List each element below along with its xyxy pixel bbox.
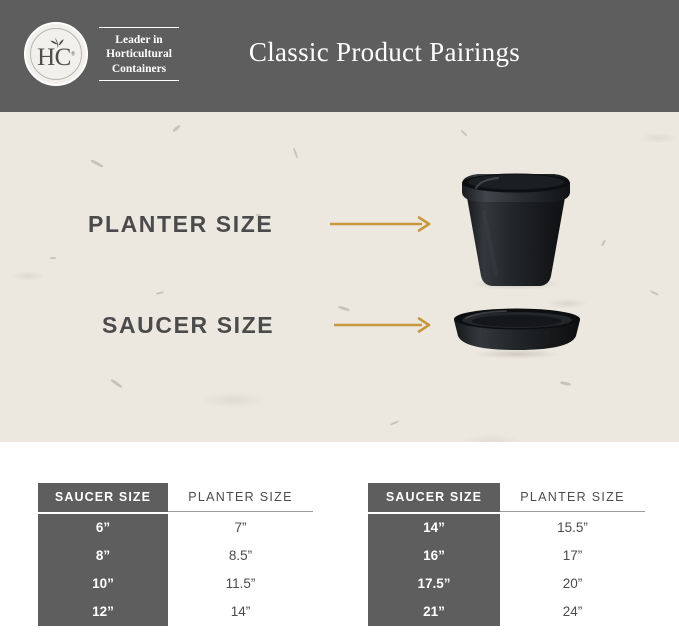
- table-row: 21” 24”: [368, 598, 645, 626]
- column-header-planter-size: PLANTER SIZE: [168, 483, 313, 512]
- page-title: Classic Product Pairings: [0, 37, 679, 68]
- texture-speck: [460, 130, 467, 137]
- size-table-left: SAUCER SIZE PLANTER SIZE 6” 7” 8” 8.5” 1…: [38, 483, 313, 626]
- saucer-size-label: SAUCER SIZE: [102, 312, 274, 339]
- texture-speck: [90, 159, 104, 168]
- table-row: 8” 8.5”: [38, 542, 313, 570]
- cell-saucer-size: 17.5”: [368, 570, 500, 598]
- texture-speck: [601, 239, 606, 246]
- table-body: 14” 15.5” 16” 17” 17.5” 20” 21” 24”: [368, 512, 645, 626]
- texture-speck: [156, 291, 164, 295]
- cell-planter-size: 24”: [500, 598, 645, 626]
- column-header-planter-size: PLANTER SIZE: [500, 483, 645, 512]
- table-row: 14” 15.5”: [368, 514, 645, 542]
- cell-planter-size: 8.5”: [168, 542, 313, 570]
- texture-speck: [338, 305, 350, 312]
- cell-planter-size: 15.5”: [500, 514, 645, 542]
- cell-saucer-size: 10”: [38, 570, 168, 598]
- table-row: 17.5” 20”: [368, 570, 645, 598]
- cell-saucer-size: 14”: [368, 514, 500, 542]
- cell-saucer-size: 12”: [38, 598, 168, 626]
- saucer-arrow-icon: [334, 317, 434, 333]
- cell-planter-size: 11.5”: [168, 570, 313, 598]
- planter-arrow-icon: [330, 216, 434, 232]
- cell-saucer-size: 6”: [38, 514, 168, 542]
- cell-planter-size: 20”: [500, 570, 645, 598]
- cell-planter-size: 7”: [168, 514, 313, 542]
- column-header-saucer-size: SAUCER SIZE: [368, 483, 500, 512]
- table-body: 6” 7” 8” 8.5” 10” 11.5” 12” 14”: [38, 512, 313, 626]
- cell-planter-size: 14”: [168, 598, 313, 626]
- table-row: 12” 14”: [38, 598, 313, 626]
- texture-speck: [390, 420, 399, 426]
- planter-size-label: PLANTER SIZE: [88, 211, 273, 238]
- table-row: 6” 7”: [38, 514, 313, 542]
- cell-saucer-size: 21”: [368, 598, 500, 626]
- column-header-saucer-size: SAUCER SIZE: [38, 483, 168, 512]
- texture-speck: [110, 379, 122, 389]
- texture-speck: [560, 381, 571, 386]
- table-header-row: SAUCER SIZE PLANTER SIZE: [368, 483, 645, 512]
- table-row: 16” 17”: [368, 542, 645, 570]
- sprout-leaf-icon: [47, 35, 69, 54]
- page-header: HC® Leader in Horticultural Containers C…: [0, 0, 679, 112]
- table-row: 10” 11.5”: [38, 570, 313, 598]
- texture-speck: [650, 290, 659, 295]
- planter-product-image: [440, 166, 592, 290]
- saucer-product-image: [450, 302, 584, 360]
- logo-trademark: ®: [71, 52, 75, 58]
- table-header-row: SAUCER SIZE PLANTER SIZE: [38, 483, 313, 512]
- size-table-right: SAUCER SIZE PLANTER SIZE 14” 15.5” 16” 1…: [368, 483, 645, 626]
- texture-speck: [50, 257, 56, 259]
- texture-speck: [172, 124, 181, 132]
- cell-saucer-size: 16”: [368, 542, 500, 570]
- texture-speck: [293, 147, 299, 158]
- cell-saucer-size: 8”: [38, 542, 168, 570]
- cell-planter-size: 17”: [500, 542, 645, 570]
